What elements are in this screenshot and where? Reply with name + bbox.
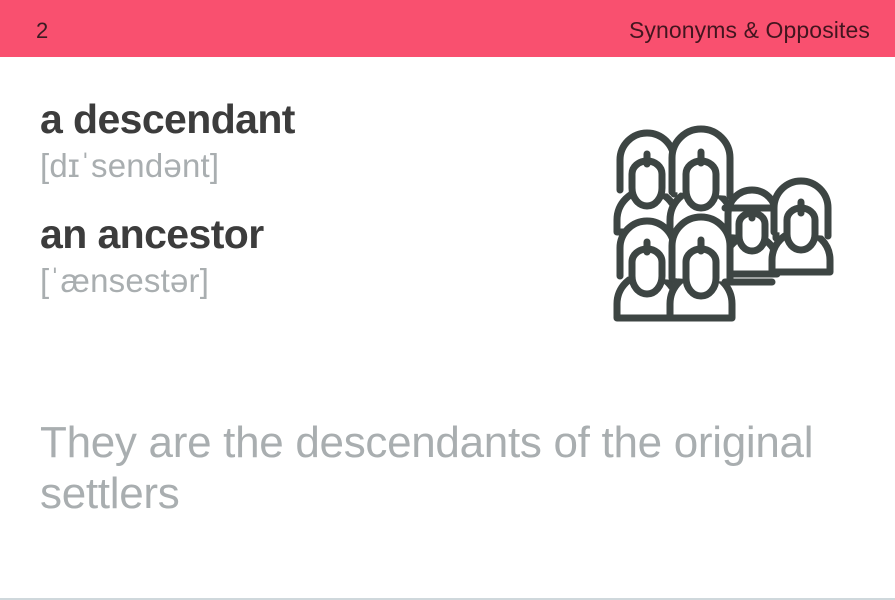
- card-body: a descendant [dɪˈsendənt] an ancestor [ˈ…: [0, 57, 895, 600]
- headword: an ancestor: [40, 212, 600, 258]
- headword: a descendant: [40, 97, 600, 143]
- phonetic-transcription: [ˈænsestər]: [40, 260, 600, 301]
- vocabulary-entry: an ancestor [ˈænsestər]: [40, 212, 600, 301]
- page-number: 2: [36, 16, 48, 42]
- vocabulary-entry: a descendant [dɪˈsendənt]: [40, 97, 600, 186]
- group-of-people-icon: [612, 122, 834, 322]
- vocabulary-entries: a descendant [dɪˈsendənt] an ancestor [ˈ…: [40, 97, 600, 301]
- flashcard: 2 Synonyms & Opposites a descendant [dɪˈ…: [0, 0, 895, 600]
- category-label: Synonyms & Opposites: [629, 15, 870, 42]
- example-sentence: They are the descendants of the original…: [40, 417, 870, 519]
- phonetic-transcription: [dɪˈsendənt]: [40, 145, 600, 186]
- card-header: 2 Synonyms & Opposites: [0, 0, 895, 57]
